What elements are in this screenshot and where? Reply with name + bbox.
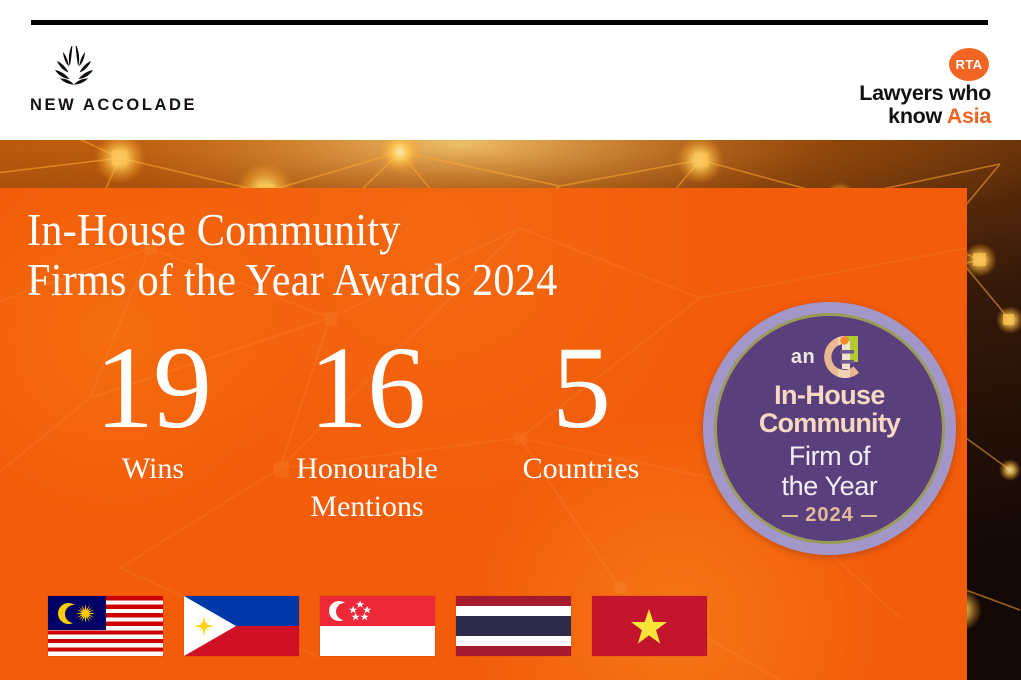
rta-mark-icon: RTA — [949, 48, 989, 81]
badge-year: 2024 — [805, 504, 854, 527]
stat-countries-number: 5 — [474, 330, 688, 446]
header-divider — [31, 20, 988, 25]
stat-wins-number: 19 — [46, 330, 260, 446]
rta-logo: RTA Lawyers who know Asia — [859, 48, 991, 128]
badge-year-row: 2024 — [782, 504, 877, 527]
country-flags-row — [48, 596, 707, 656]
stat-mentions-label-line1: Honourable — [260, 450, 474, 488]
thailand-band-white-bottom — [456, 636, 571, 646]
philippines-flag — [184, 596, 299, 656]
page-header: NEW ACCOLADE RTA Lawyers who know Asia — [0, 0, 1021, 140]
page-title: In-House Community Firms of the Year Awa… — [27, 205, 557, 305]
thailand-band-blue — [456, 616, 571, 636]
singapore-flag — [320, 596, 435, 656]
thailand-band-red-bottom — [456, 646, 571, 656]
badge-line-3: Firm of — [789, 441, 870, 471]
malaysia-star-icon — [76, 604, 95, 623]
rta-mark-text: RTA — [956, 57, 983, 72]
rta-tagline-line2: know Asia — [859, 105, 991, 128]
brand-lockup: NEW ACCOLADE — [30, 42, 330, 115]
vietnam-flag — [592, 596, 707, 656]
stat-mentions-label: Honourable Mentions — [260, 450, 474, 526]
badge-line-1: In-House — [774, 382, 885, 409]
title-line-1: In-House Community — [27, 204, 401, 255]
stat-wins-label: Wins — [46, 450, 260, 488]
stat-wins: 19 Wins — [46, 330, 260, 526]
vietnam-star-icon — [630, 608, 668, 646]
in-house-community-logo-icon — [822, 334, 868, 380]
thailand-band-white-top — [456, 606, 571, 616]
badge-top-row: an — [791, 333, 868, 381]
badge-dash-right — [861, 515, 877, 517]
rta-tagline: Lawyers who know Asia — [859, 82, 991, 128]
stat-countries-label: Countries — [474, 450, 688, 488]
title-line-2: Firms of the Year Awards 2024 — [27, 255, 557, 305]
stat-mentions-number: 16 — [260, 330, 474, 446]
badge-line-4: the Year — [782, 471, 878, 501]
stats-row: 19 Wins 16 Honourable Mentions 5 Countri… — [46, 330, 688, 526]
thailand-band-red-top — [456, 596, 571, 606]
singapore-crescent-icon — [329, 601, 349, 621]
award-badge: an In-House Community Firm of the Year — [703, 302, 956, 555]
laurel-wreath-icon — [44, 42, 104, 88]
brand-name: NEW ACCOLADE — [30, 96, 330, 115]
badge-dash-left — [782, 515, 798, 517]
stat-honourable-mentions: 16 Honourable Mentions — [260, 330, 474, 526]
stat-countries: 5 Countries — [474, 330, 688, 526]
poster-canvas: NEW ACCOLADE RTA Lawyers who know Asia — [0, 0, 1021, 680]
philippines-sun-icon — [194, 616, 214, 636]
thailand-flag — [456, 596, 571, 656]
stat-mentions-label-line2: Mentions — [260, 488, 474, 526]
singapore-stars-icon — [347, 600, 373, 623]
rta-tagline-asia: Asia — [947, 104, 991, 128]
malaysia-flag — [48, 596, 163, 656]
badge-line-2: Community — [759, 409, 900, 438]
rta-tagline-line1: Lawyers who — [859, 82, 991, 105]
badge-face: an In-House Community Firm of the Year — [717, 316, 942, 541]
rta-tagline-know: know — [888, 104, 947, 128]
badge-prefix: an — [791, 346, 815, 369]
